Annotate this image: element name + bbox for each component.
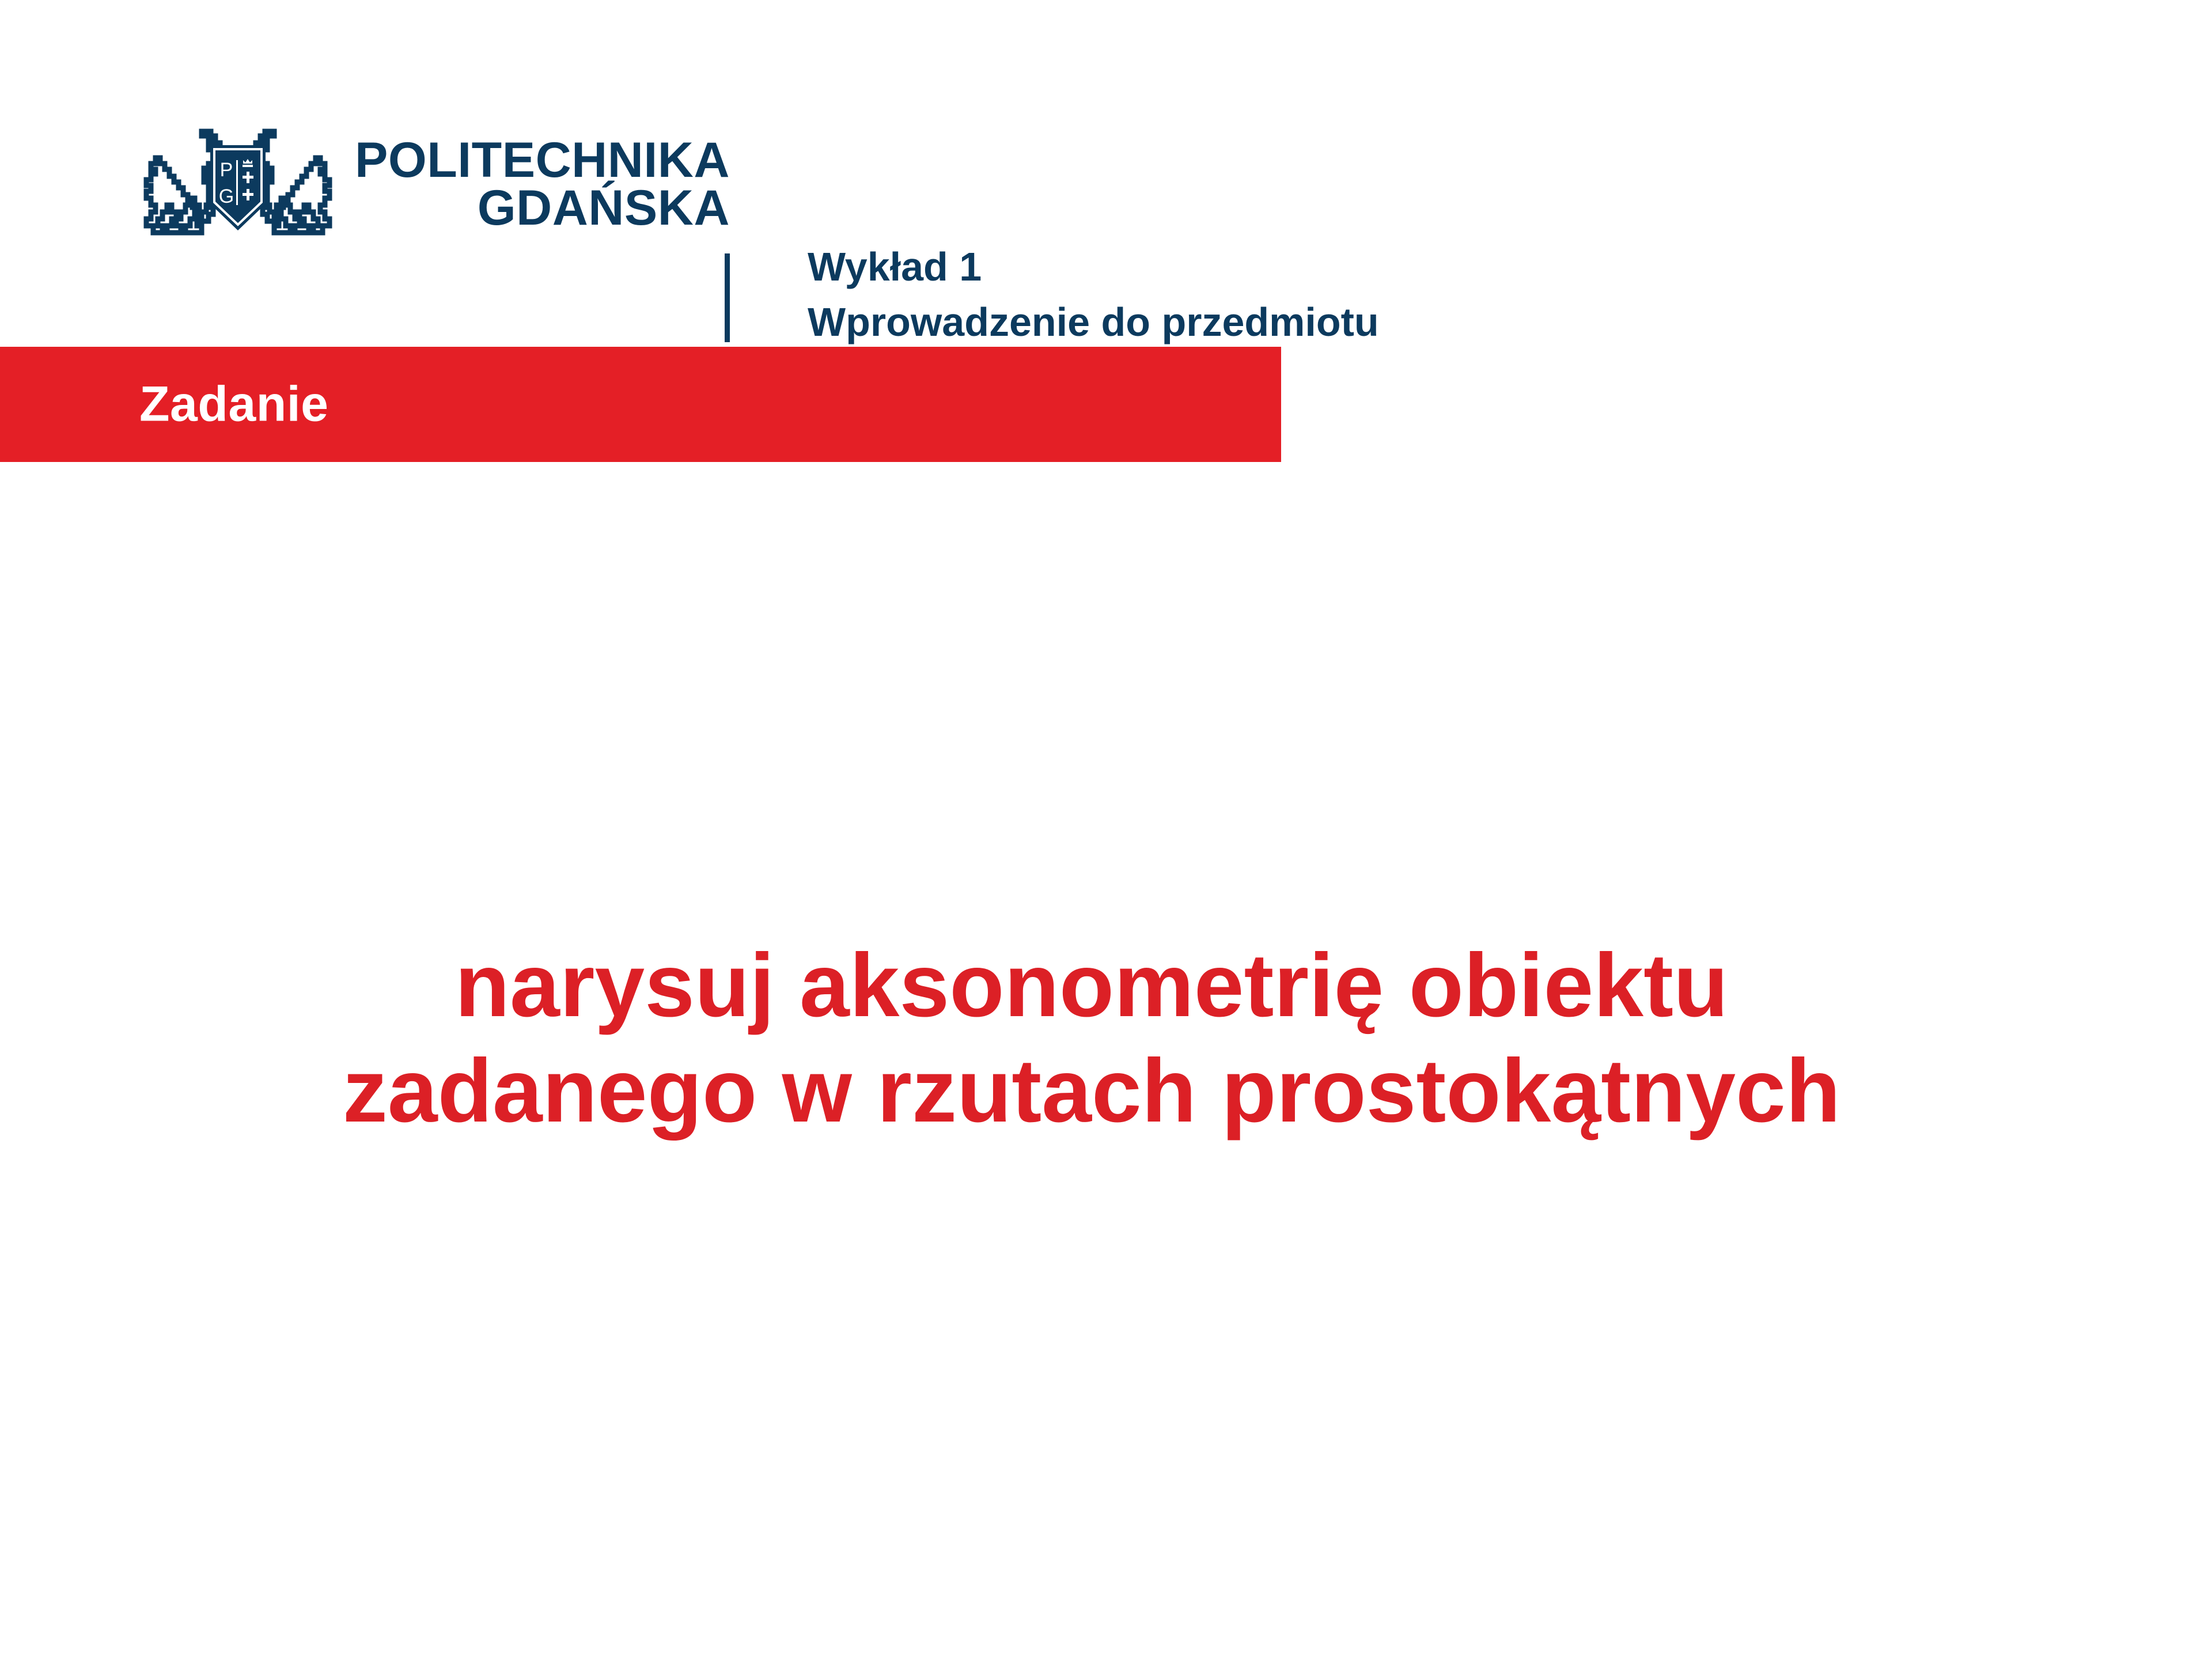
slide-canvas: P G POLITECHNIKA GDAŃSKA <box>0 0 2212 1659</box>
task-statement: narysuj aksonometrię obiektu zadanego w … <box>0 933 2183 1143</box>
section-banner-label: Zadanie <box>139 376 328 433</box>
wordmark-line-1: POLITECHNIKA <box>355 137 730 184</box>
svg-text:G: G <box>219 185 234 207</box>
header-title-group: Wykład 1 Wprowadzenie do przedmiotu <box>808 247 1379 342</box>
lecture-subtitle: Wprowadzenie do przedmiotu <box>808 302 1379 342</box>
header-vertical-divider <box>725 253 730 342</box>
lecture-number: Wykład 1 <box>808 247 1379 287</box>
task-line-2: zadanego w rzutach prostokątnych <box>0 1039 2183 1144</box>
university-brand-lockup: P G POLITECHNIKA GDAŃSKA <box>137 115 730 253</box>
slide-header: P G POLITECHNIKA GDAŃSKA <box>0 115 2212 253</box>
svg-text:P: P <box>220 159 233 181</box>
politechnika-gdanska-crest-icon: P G <box>137 128 339 241</box>
task-line-1: narysuj aksonometrię obiektu <box>0 933 2183 1039</box>
wordmark-line-2: GDAŃSKA <box>478 184 730 232</box>
section-banner: Zadanie <box>0 347 1281 462</box>
university-wordmark: POLITECHNIKA GDAŃSKA <box>355 137 730 232</box>
